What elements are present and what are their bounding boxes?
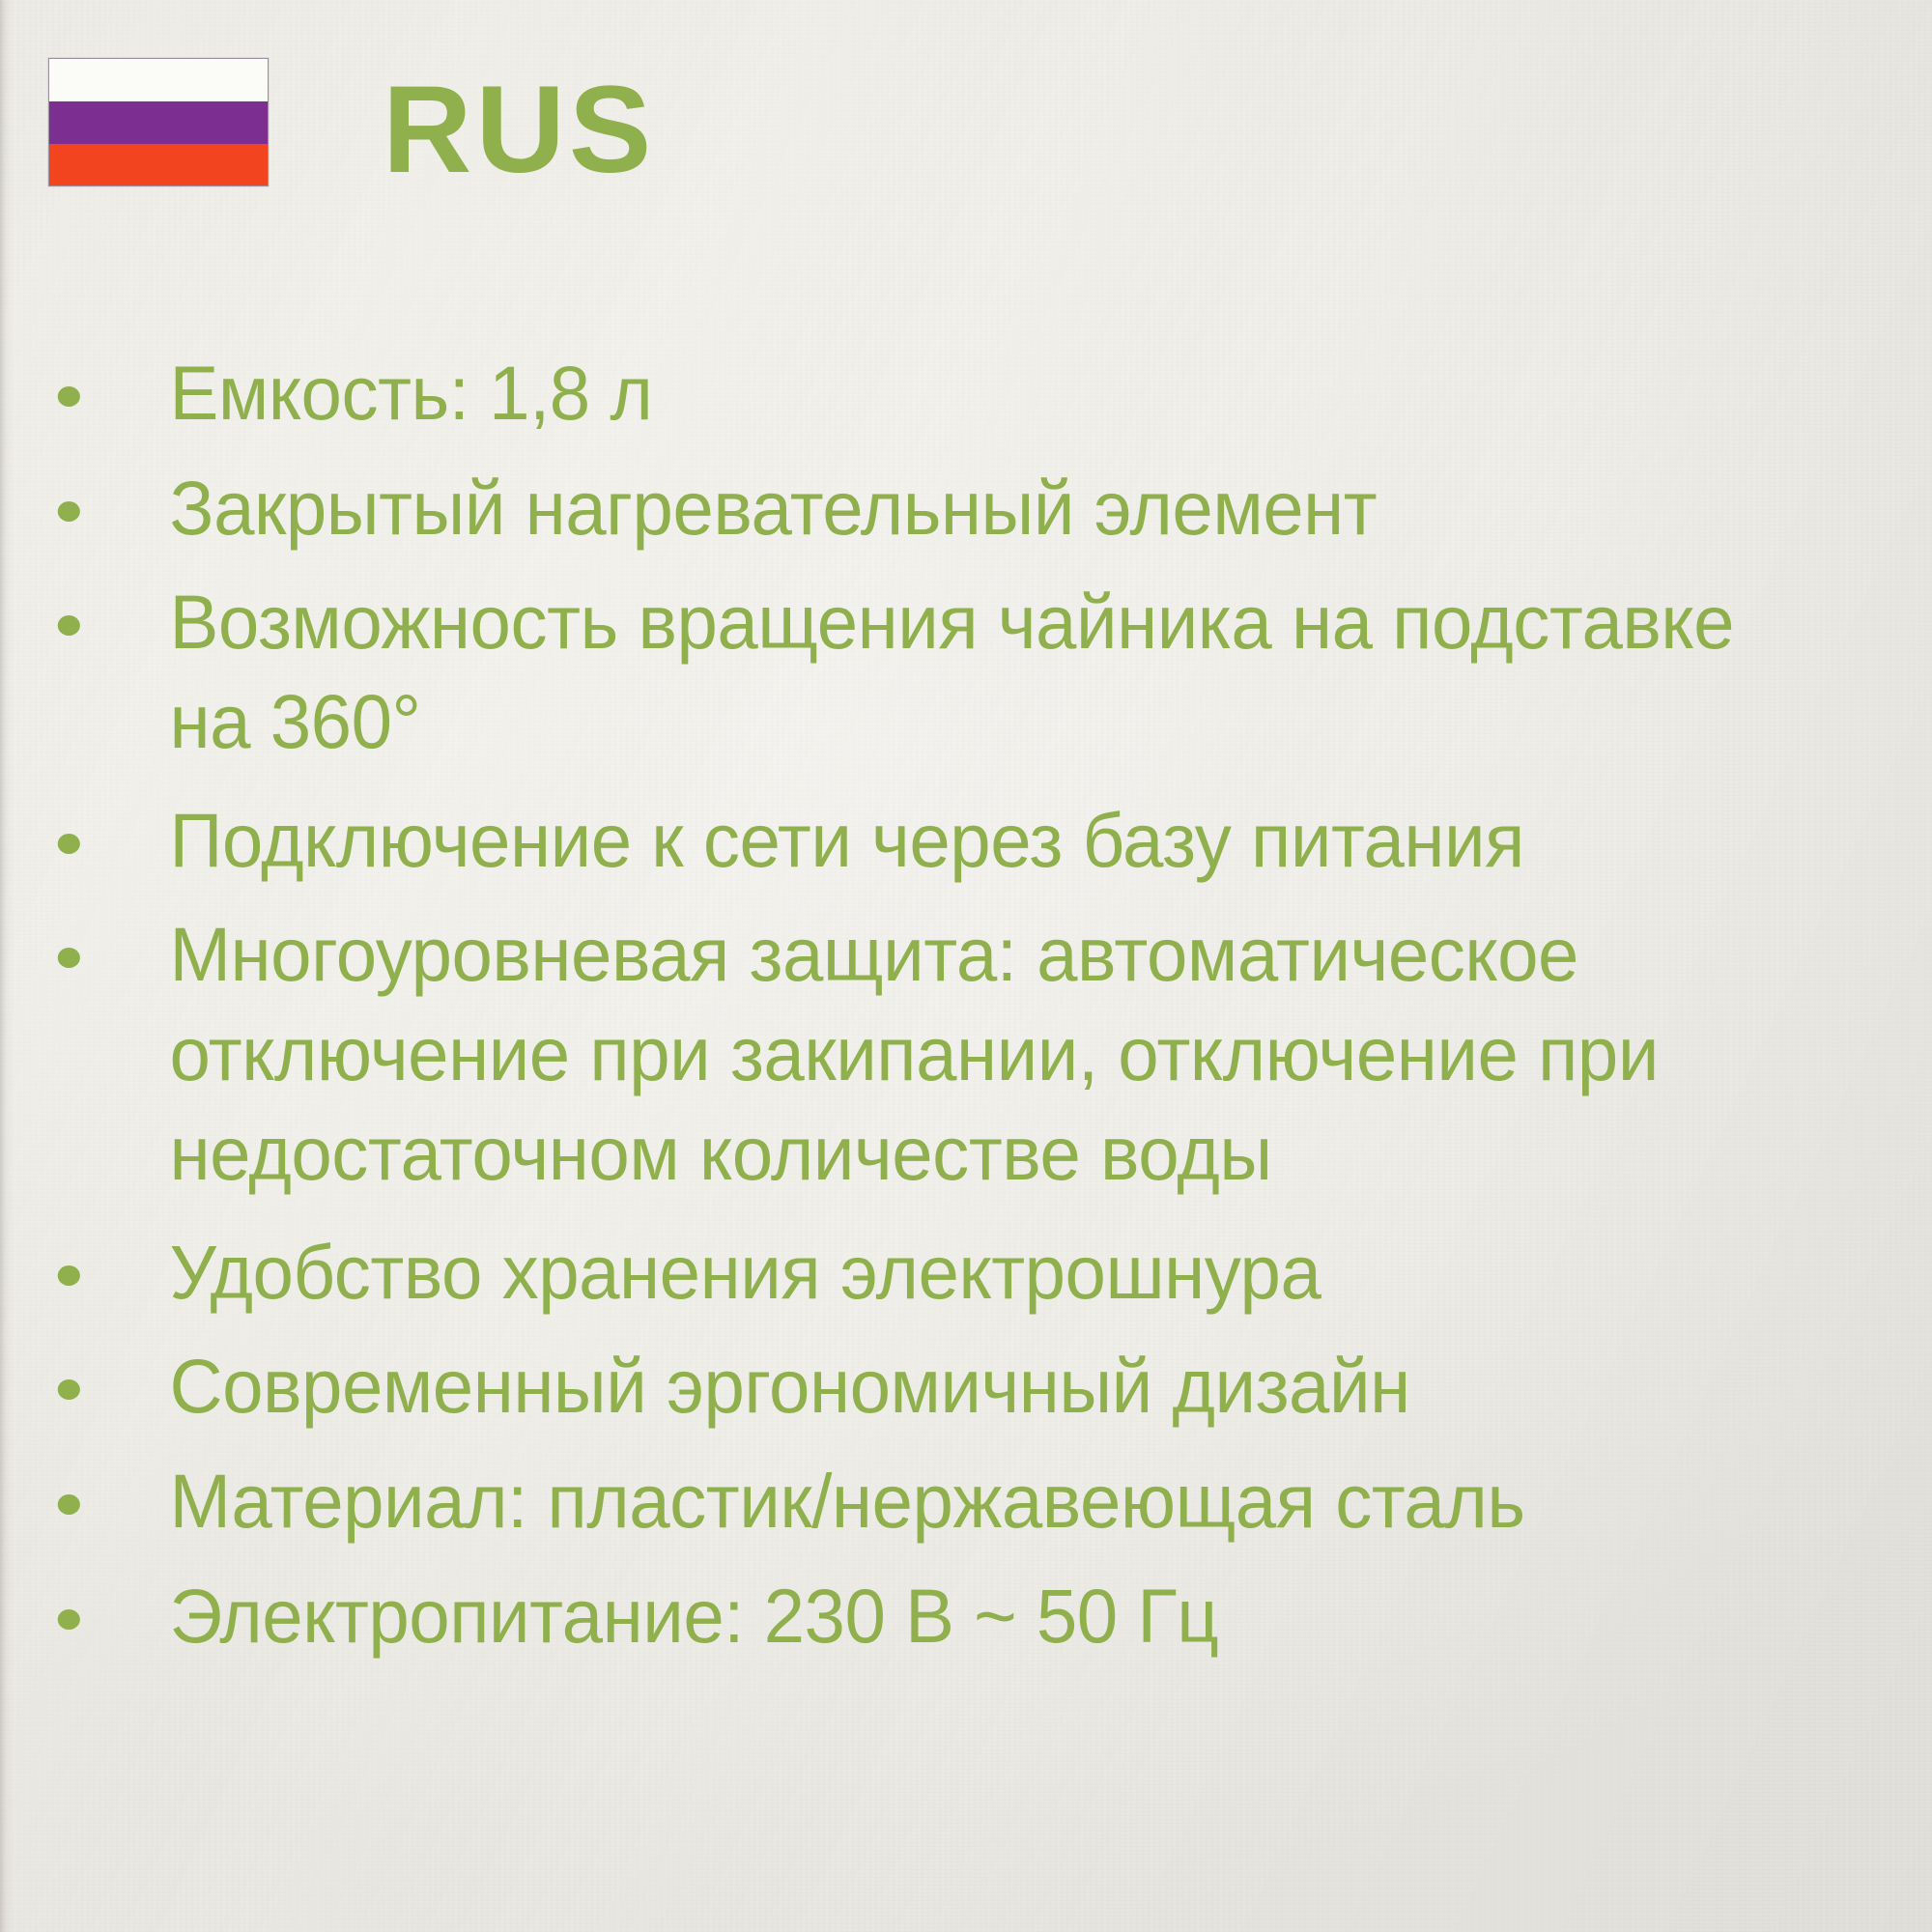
spec-list-item: Подключение к сети через базу питания	[50, 791, 1822, 891]
spec-text: Электропитание: 230 В ~ 50 Гц	[170, 1567, 1822, 1666]
spec-text: Удобство хранения электрошнура	[170, 1223, 1822, 1322]
bullet-icon	[58, 834, 80, 854]
spec-text: Материал: пластик/нержавеющая сталь	[170, 1452, 1822, 1551]
spec-list-item: Современный эргономичный дизайн	[50, 1337, 1822, 1436]
specification-list: Емкость: 1,8 л Закрытый нагревательный э…	[50, 344, 1886, 1681]
bullet-icon	[58, 386, 80, 407]
spec-text: Подключение к сети через базу питания	[170, 791, 1822, 891]
bullet-icon	[58, 1609, 80, 1630]
spec-text: Закрытый нагревательный элемент	[170, 459, 1822, 558]
language-header: RUS	[48, 58, 655, 186]
bullet-icon	[58, 1379, 80, 1400]
spec-list-item: Емкость: 1,8 л	[50, 344, 1822, 443]
spec-list-item: Электропитание: 230 В ~ 50 Гц	[50, 1567, 1822, 1666]
spec-list-item: Многоуровневая защита: автоматическое от…	[50, 905, 1822, 1203]
spec-text: Емкость: 1,8 л	[170, 344, 1822, 443]
spec-text: Многоуровневая защита: автоматическое от…	[170, 905, 1822, 1203]
spec-text: Современный эргономичный дизайн	[170, 1337, 1822, 1436]
spec-list-item: Удобство хранения электрошнура	[50, 1223, 1822, 1322]
spec-text: Возможность вращения чайника на подставк…	[170, 573, 1822, 771]
spec-list-item: Закрытый нагревательный элемент	[50, 459, 1822, 558]
spec-list-item: Возможность вращения чайника на подставк…	[50, 573, 1822, 771]
russian-flag-icon	[48, 58, 269, 186]
spec-list-item: Материал: пластик/нержавеющая сталь	[50, 1452, 1822, 1551]
flag-stripe-purple	[49, 101, 268, 144]
flag-stripe-white	[49, 59, 268, 101]
language-code-title: RUS	[383, 69, 655, 192]
bullet-icon	[58, 948, 80, 968]
bullet-icon	[58, 1265, 80, 1286]
product-label-page: RUS Емкость: 1,8 л Закрытый нагревательн…	[0, 0, 1932, 1932]
bullet-icon	[58, 1494, 80, 1515]
bullet-icon	[58, 615, 80, 636]
flag-stripe-red	[49, 144, 268, 185]
bullet-icon	[58, 501, 80, 522]
